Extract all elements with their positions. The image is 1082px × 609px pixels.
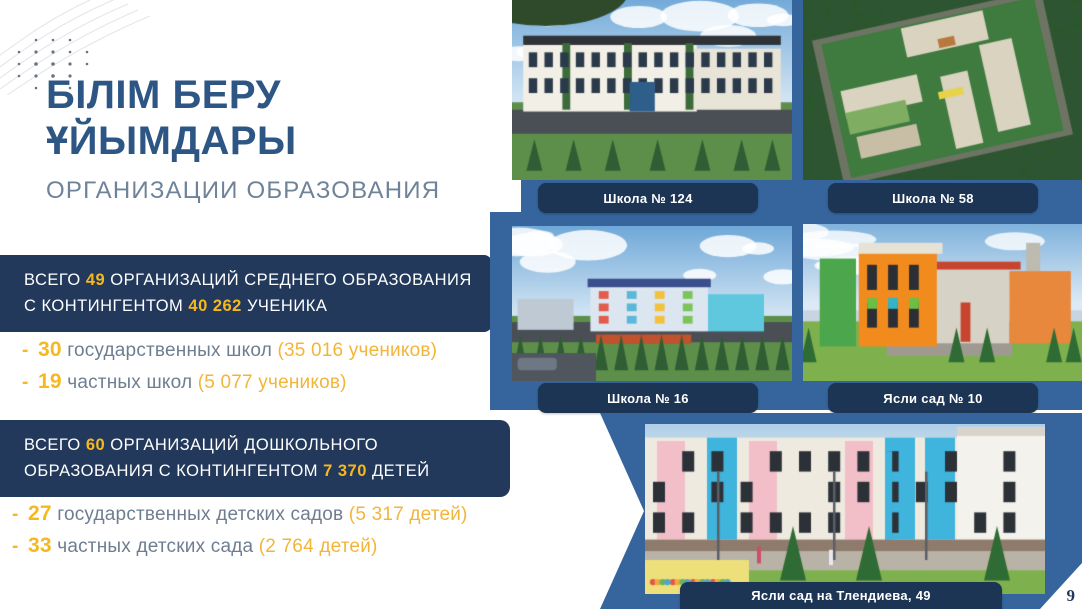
photo-kindergarten-tlendieva[interactable] [645, 424, 1045, 594]
banner-secondary-education: ВСЕГО 49 ОРГАНИЗАЦИЙ СРЕДНЕГО ОБРАЗОВАНИ… [0, 255, 492, 332]
caption-school-16: Школа № 16 [538, 383, 758, 413]
bullets-schools: -30 государственных школ (35 016 ученико… [22, 334, 437, 398]
banner-preschool-line1: ВСЕГО 60 ОРГАНИЗАЦИЙ ДОШКОЛЬНОГО [24, 432, 488, 458]
preschool-total-count: 60 [86, 436, 105, 454]
title-russian: ОРГАНИЗАЦИИ ОБРАЗОВАНИЯ [46, 176, 486, 206]
slide-root: БІЛІМ БЕРУ ҰЙЫМДАРЫ ОРГАНИЗАЦИИ ОБРАЗОВА… [0, 0, 1082, 609]
photo-school-124[interactable] [512, 0, 792, 180]
photo-school-16[interactable] [512, 226, 792, 381]
caption-school-124: Школа № 124 [538, 183, 758, 213]
schools-student-count: 40 262 [188, 297, 241, 315]
list-item: -33 частных детских сада (2 764 детей) [12, 530, 468, 562]
photo-kindergarten-10[interactable] [803, 224, 1082, 381]
banner-preschool-education: ВСЕГО 60 ОРГАНИЗАЦИЙ ДОШКОЛЬНОГО ОБРАЗОВ… [0, 420, 510, 497]
caption-kindergarten-tlendieva: Ясли сад на Тлендиева, 49 [680, 582, 1002, 609]
list-item: -27 государственных детских садов (5 317… [12, 498, 468, 530]
bullets-preschool: -27 государственных детских садов (5 317… [12, 498, 468, 562]
title-kazakh-line2: ҰЙЫМДАРЫ [46, 119, 297, 163]
title-kazakh-line1: БІЛІМ БЕРУ [46, 73, 281, 117]
banner-preschool-line2: ОБРАЗОВАНИЯ С КОНТИНГЕНТОМ 7 370 ДЕТЕЙ [24, 458, 488, 484]
caption-kindergarten-10: Ясли сад № 10 [828, 383, 1038, 413]
caption-school-58: Школа № 58 [828, 183, 1038, 213]
banner-schools-line1: ВСЕГО 49 ОРГАНИЗАЦИЙ СРЕДНЕГО ОБРАЗОВАНИ… [24, 267, 470, 293]
page-title: БІЛІМ БЕРУ ҰЙЫМДАРЫ ОРГАНИЗАЦИИ ОБРАЗОВА… [46, 72, 486, 206]
schools-total-count: 49 [86, 271, 105, 289]
banner-schools-line2: С КОНТИНГЕНТОМ 40 262 УЧЕНИКА [24, 293, 470, 319]
list-item: -19 частных школ (5 077 учеников) [22, 366, 437, 398]
title-kazakh: БІЛІМ БЕРУ ҰЙЫМДАРЫ [46, 72, 486, 164]
photo-school-58[interactable] [803, 0, 1082, 180]
preschool-children-count: 7 370 [323, 462, 367, 480]
page-number: 9 [1067, 586, 1076, 606]
list-item: -30 государственных школ (35 016 ученико… [22, 334, 437, 366]
